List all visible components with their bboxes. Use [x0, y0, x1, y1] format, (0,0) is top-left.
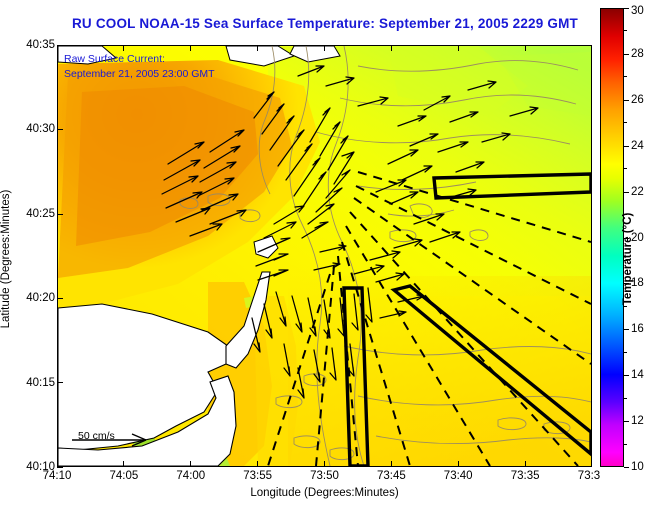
colorbar-tick-label: 10 — [631, 461, 644, 473]
colorbar-tick-label: 24 — [631, 140, 644, 152]
xtick-label: 74:10 — [43, 470, 72, 482]
xtick-label: 73:55 — [243, 470, 272, 482]
xtick-label: 73:50 — [310, 470, 339, 482]
colorbar-gradient — [600, 8, 624, 467]
arrow-right-icon — [66, 430, 166, 448]
xtick-label: 74:00 — [176, 470, 205, 482]
ytick-label: 40:25 — [26, 208, 55, 220]
xtick-label: 73:35 — [511, 470, 540, 482]
page-title: RU COOL NOAA-15 Sea Surface Temperature:… — [57, 16, 593, 31]
xtick-label: 73:40 — [444, 470, 473, 482]
xtick-label: 73:3 — [578, 470, 600, 482]
colorbar-tick-label: 28 — [631, 48, 644, 60]
y-axis-label: Latitude (Degrees:Minutes) — [0, 159, 12, 359]
ytick-label: 40:30 — [26, 123, 55, 135]
x-axis-label: Longitude (Degrees:Minutes) — [57, 487, 592, 499]
xtick-label: 74:05 — [110, 470, 139, 482]
colorbar-tick-label: 30 — [631, 5, 644, 17]
colorbar-tick-label: 14 — [631, 369, 644, 381]
sst-map-canvas — [58, 46, 591, 466]
ytick-label: 40:15 — [26, 377, 55, 389]
xtick-label: 73:45 — [377, 470, 406, 482]
ytick-label: 40:20 — [26, 292, 55, 304]
colorbar: 10 12 14 16 18 20 22 24 26 28 30 — [600, 8, 624, 467]
ytick-label: 40:35 — [26, 39, 55, 51]
colorbar-tick-label: 26 — [631, 94, 644, 106]
colorbar-tick-label: 12 — [631, 415, 644, 427]
sst-map-plot: Raw Surface Current: September 21, 2005 … — [57, 45, 592, 467]
colorbar-title: Temperature (°C) — [622, 174, 634, 344]
scale-legend: 50 cm/s — [66, 430, 176, 442]
